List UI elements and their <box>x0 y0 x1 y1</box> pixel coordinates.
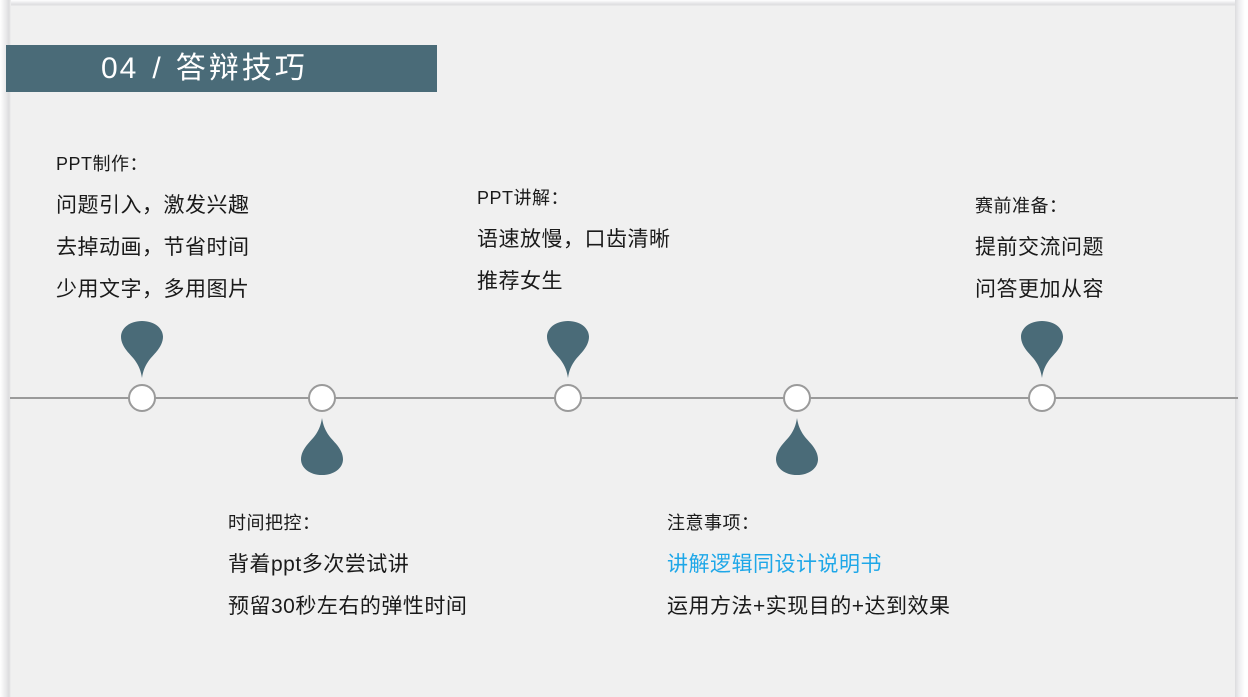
block-ppt-production: PPT制作：问题引入，激发兴趣去掉动画，节省时间少用文字，多用图片 <box>56 143 250 311</box>
block-time-control-line-1: 背着ppt多次尝试讲 <box>228 544 467 586</box>
slide-top-edge-shadow <box>11 0 1235 6</box>
timeline-node-5[interactable] <box>1028 384 1056 412</box>
block-ppt-production-title: PPT制作： <box>56 143 250 185</box>
block-pre-competition-title: 赛前准备： <box>975 185 1104 227</box>
timeline-node-4[interactable] <box>783 384 811 412</box>
block-notes-line-2: 运用方法+实现目的+达到效果 <box>667 586 951 628</box>
block-pre-competition-line-2: 问答更加从容 <box>975 269 1104 311</box>
slide-right-edge-shadow <box>1235 0 1248 697</box>
section-separator: / <box>138 52 175 85</box>
timeline-pin-4-down <box>775 418 819 476</box>
block-ppt-production-line-3: 少用文字，多用图片 <box>56 269 250 311</box>
page-title: 04/答辩技巧 <box>101 49 308 89</box>
timeline-pin-1-up <box>120 320 164 378</box>
slide-frame: 04/答辩技巧 PPT制作：问题引入，激发兴趣去掉动画，节省时间少用文字，多用图… <box>0 0 1248 697</box>
block-pre-competition-line-1: 提前交流问题 <box>975 227 1104 269</box>
block-ppt-presentation: PPT讲解：语速放慢，口齿清晰推荐女生 <box>477 177 671 303</box>
block-notes: 注意事项：讲解逻辑同设计说明书运用方法+实现目的+达到效果 <box>667 502 951 628</box>
block-notes-line-1: 讲解逻辑同设计说明书 <box>667 544 951 586</box>
block-ppt-production-line-1: 问题引入，激发兴趣 <box>56 185 250 227</box>
block-ppt-presentation-title: PPT讲解： <box>477 177 671 219</box>
block-notes-title: 注意事项： <box>667 502 951 544</box>
section-number: 04 <box>101 52 138 85</box>
block-time-control-line-2: 预留30秒左右的弹性时间 <box>228 586 467 628</box>
block-ppt-production-line-2: 去掉动画，节省时间 <box>56 227 250 269</box>
block-ppt-presentation-line-2: 推荐女生 <box>477 261 671 303</box>
timeline-pin-3-up <box>546 320 590 378</box>
timeline-node-1[interactable] <box>128 384 156 412</box>
timeline-pin-5-up <box>1020 320 1064 378</box>
block-pre-competition: 赛前准备：提前交流问题问答更加从容 <box>975 185 1104 311</box>
timeline-pin-2-down <box>300 418 344 476</box>
timeline-node-2[interactable] <box>308 384 336 412</box>
block-ppt-presentation-line-1: 语速放慢，口齿清晰 <box>477 219 671 261</box>
block-time-control-title: 时间把控： <box>228 502 467 544</box>
section-title-text: 答辩技巧 <box>176 52 308 85</box>
block-time-control: 时间把控：背着ppt多次尝试讲预留30秒左右的弹性时间 <box>228 502 467 628</box>
timeline-node-3[interactable] <box>554 384 582 412</box>
